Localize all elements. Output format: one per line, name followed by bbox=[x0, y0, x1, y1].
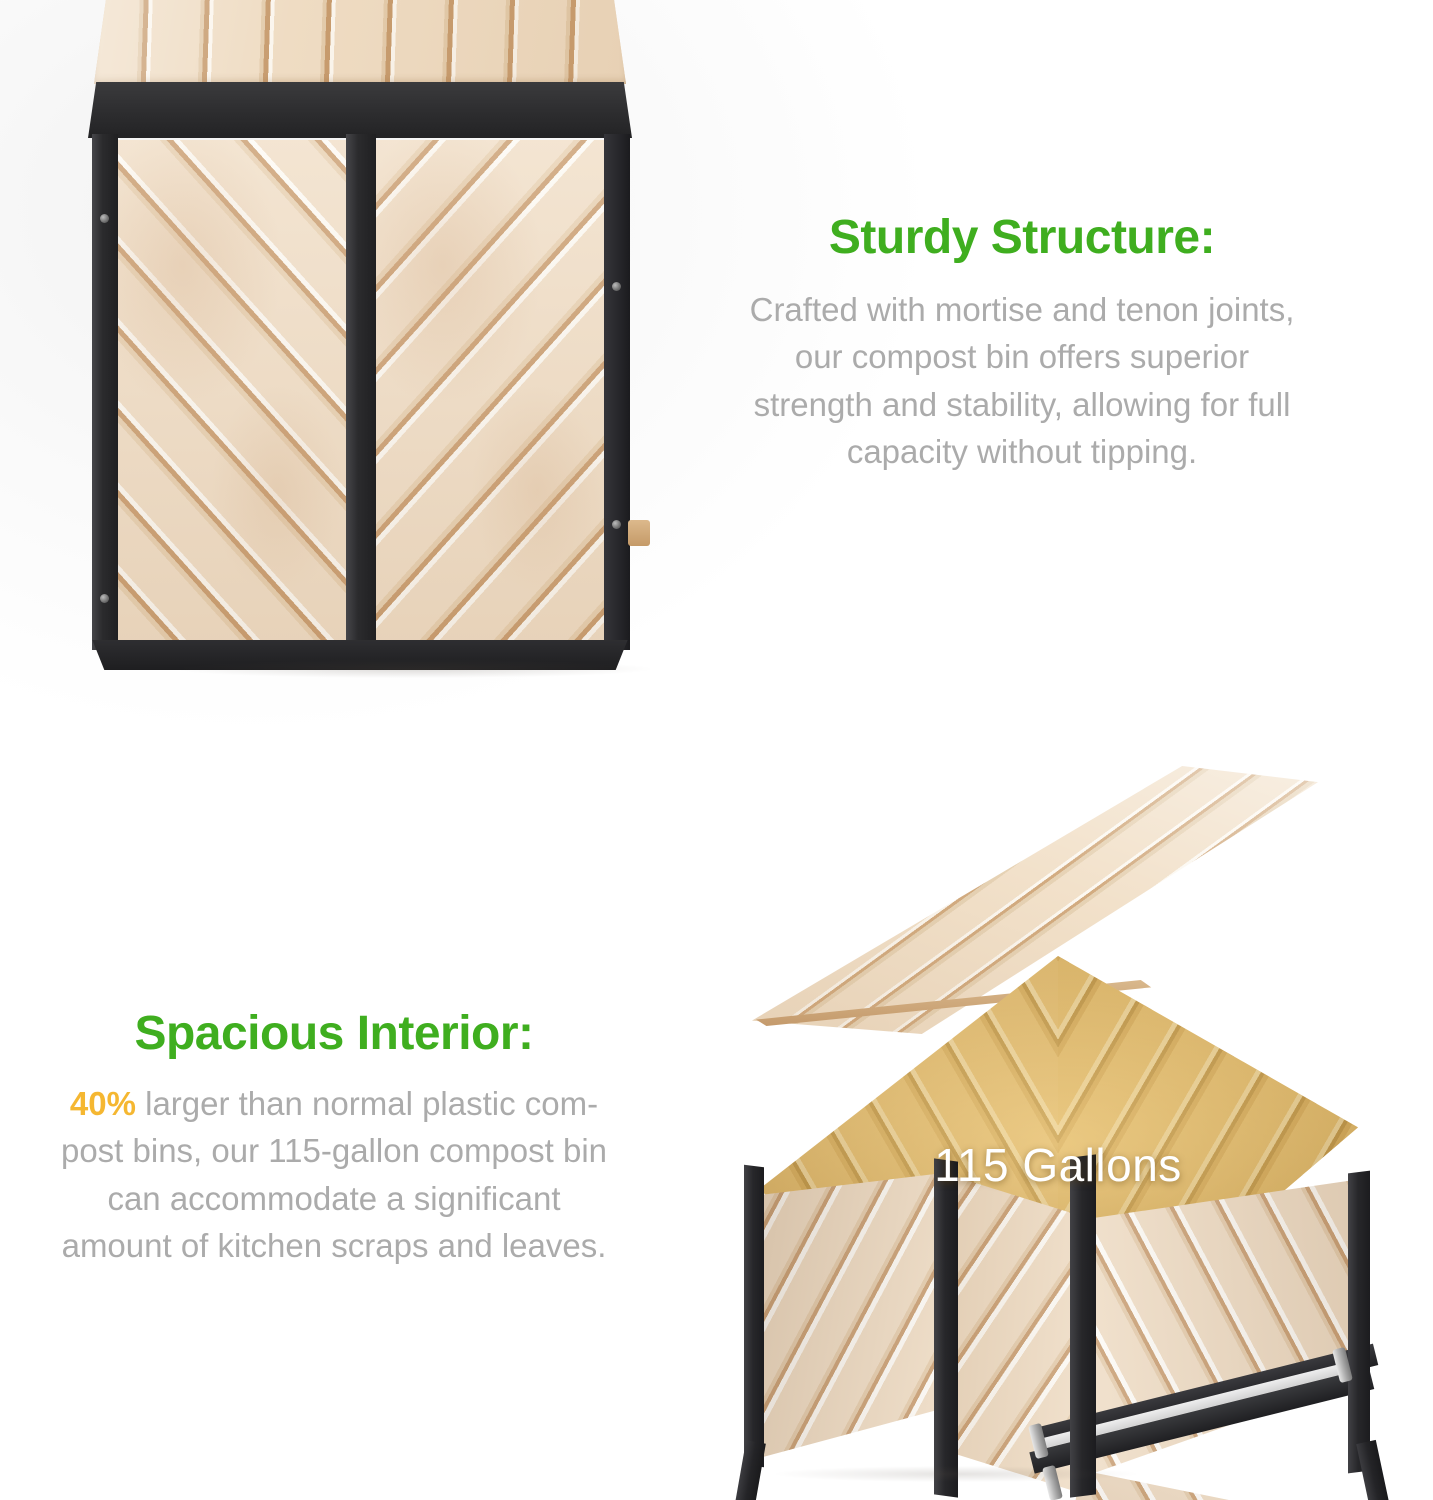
stat-highlight-percent: 40% bbox=[70, 1085, 136, 1122]
feature-heading-spacious-interior: Spacious Interior: bbox=[0, 1008, 672, 1060]
bin-vertical-beam-3 bbox=[1070, 1154, 1096, 1497]
bin-vertical-beam-1 bbox=[744, 1165, 764, 1467]
bin-leg-left bbox=[731, 1440, 766, 1500]
bin-top-rail bbox=[88, 82, 632, 138]
screw-icon bbox=[612, 520, 621, 529]
product-image-bin-open: 115 Gallons bbox=[736, 766, 1433, 1500]
bin-open-ground-shadow bbox=[776, 1466, 1136, 1482]
product-image-bin-closed bbox=[80, 0, 640, 724]
feature-block-spacious-interior: Spacious Interior: 40% larger than norma… bbox=[0, 1008, 672, 1270]
feature-body-line: strength and stability, allowing for ful… bbox=[672, 381, 1372, 429]
screw-icon bbox=[100, 594, 109, 603]
bin-vertical-beam-2 bbox=[934, 1158, 958, 1497]
feature-body-line: Crafted with mortise and tenon joints, bbox=[672, 286, 1372, 334]
bin-panel-left bbox=[112, 140, 348, 640]
feature-body-line: post bins, our 115-gallon compost bin bbox=[0, 1127, 672, 1175]
bin-vertical-beam-4 bbox=[1348, 1171, 1370, 1474]
feature-body-line: amount of kitchen scraps and leaves. bbox=[0, 1222, 672, 1270]
feature-body-line-remainder: larger than normal plastic com- bbox=[136, 1085, 598, 1122]
feature-body-sturdy-structure: Crafted with mortise and tenon joints, o… bbox=[672, 286, 1372, 476]
bin-closed-ground-shadow bbox=[180, 660, 650, 678]
bin-wooden-peg bbox=[628, 520, 650, 546]
feature-block-sturdy-structure: Sturdy Structure: Crafted with mortise a… bbox=[672, 212, 1372, 476]
bin-leg-right bbox=[1356, 1440, 1398, 1500]
bin-open-body bbox=[736, 1166, 1433, 1500]
screw-icon bbox=[612, 282, 621, 291]
bin-post-right bbox=[604, 134, 630, 650]
screw-icon bbox=[100, 214, 109, 223]
feature-body-spacious-interior: 40% larger than normal plastic com- post… bbox=[0, 1080, 672, 1270]
bin-panel-right bbox=[372, 140, 608, 640]
bin-face-left bbox=[752, 1172, 952, 1472]
bin-lid-slats bbox=[94, 0, 626, 84]
bin-body bbox=[88, 134, 632, 664]
bin-post-left bbox=[92, 134, 118, 650]
feature-panel-page: Sturdy Structure: Crafted with mortise a… bbox=[0, 0, 1433, 1500]
bin-post-middle bbox=[346, 134, 376, 650]
feature-body-line-with-highlight: 40% larger than normal plastic com- bbox=[0, 1080, 672, 1128]
feature-body-line: can accommodate a significant bbox=[0, 1175, 672, 1223]
feature-body-line: our compost bin offers superior bbox=[672, 333, 1372, 381]
feature-body-line: capacity without tipping. bbox=[672, 428, 1372, 476]
feature-heading-sturdy-structure: Sturdy Structure: bbox=[672, 212, 1372, 264]
